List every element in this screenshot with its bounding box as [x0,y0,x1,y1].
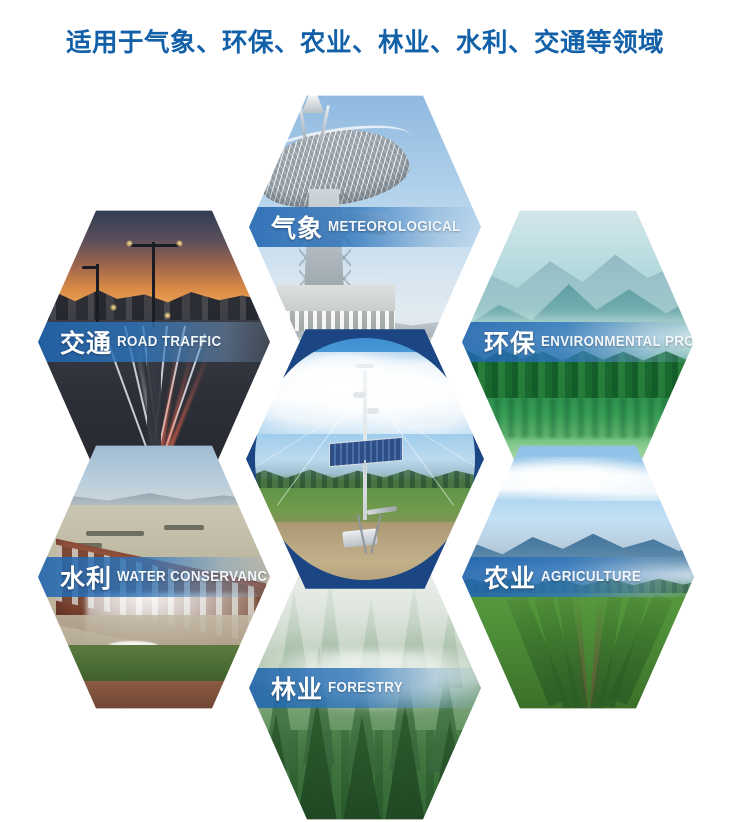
hex-label-en: WATER CONSERVANCY [117,569,270,585]
hex-tile-meteorological[interactable]: 气象 METEOROLOGICAL [249,93,481,361]
hex-label-road-traffic: 交通 ROAD TRAFFIC [38,322,270,362]
hex-label-cn: 水利 [60,559,112,595]
hex-label-en: ROAD TRAFFIC [117,334,221,350]
hex-tile-weather-station-center[interactable] [246,328,484,590]
hex-tile-environmental-protection[interactable]: 环保 ENVIRONMENTAL PROTECTION [462,208,694,476]
hex-label-en: METEOROLOGICAL [328,219,461,235]
photo-weather-station [255,338,475,580]
hex-tile-water-conservancy[interactable]: 水利 WATER CONSERVANCY [38,443,270,711]
hexagon-grid: 气象 METEOROLOGICAL [0,60,730,816]
hex-tile-forestry[interactable]: 林业 FORESTRY [249,554,481,822]
hex-label-en: AGRICULTURE [541,569,641,585]
hex-label-forestry: 林业 FORESTRY [249,668,481,708]
hex-label-agriculture: 农业 AGRICULTURE [462,557,694,597]
hex-tile-road-traffic[interactable]: 交通 ROAD TRAFFIC [38,208,270,476]
hex-tile-agriculture[interactable]: 农业 AGRICULTURE [462,443,694,711]
hex-label-cn: 农业 [484,559,536,595]
hex-label-cn: 环保 [484,324,536,360]
hex-label-en: ENVIRONMENTAL PROTECTION [541,334,694,350]
hex-label-cn: 交通 [60,324,112,360]
hex-label-cn: 气象 [271,209,323,245]
hex-label-water-conservancy: 水利 WATER CONSERVANCY [38,557,270,597]
hex-label-environmental-protection: 环保 ENVIRONMENTAL PROTECTION [462,322,694,362]
hex-label-cn: 林业 [271,670,323,706]
hex-label-en: FORESTRY [328,680,403,696]
page-title: 适用于气象、环保、农业、林业、水利、交通等领域 [0,22,730,59]
hex-label-meteorological: 气象 METEOROLOGICAL [249,207,481,247]
